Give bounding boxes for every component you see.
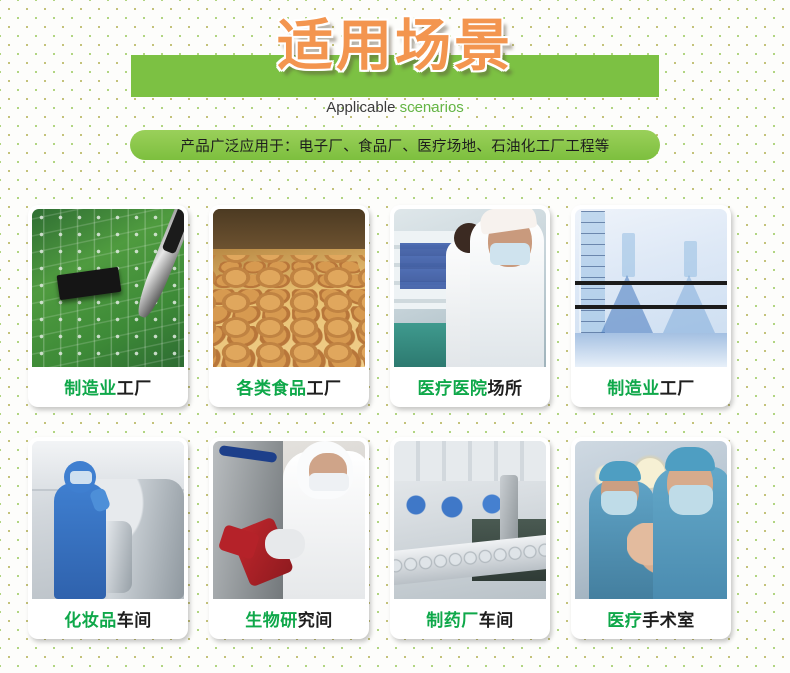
scenario-card[interactable]: 各类食品工厂 [209,205,369,407]
scenario-label-green: 医疗 [607,606,642,631]
scenario-card[interactable]: 生物研究间 [209,437,369,639]
scenario-card-label: 医疗医院场所 [394,367,546,407]
scenario-photo-bio-research-lab [213,441,365,599]
scenario-card[interactable]: 制造业工厂 [571,205,731,407]
scenario-label-green: 制造业 [64,374,117,399]
scenario-card-label: 制药厂车间 [394,599,546,639]
scenario-photo-laboratory-glassware [575,209,727,367]
scenario-card-label: 制造业工厂 [32,367,184,407]
scenario-card-grid: 制造业工厂 各类食品工厂 医疗医院场所 [28,205,764,639]
scenario-label-dark: 工厂 [117,374,152,399]
scenario-card-label: 化妆品车间 [32,599,184,639]
scenario-label-dark: 手术室 [642,606,695,631]
application-banner-text: 产品广泛应用于：电子厂、食品厂、医疗场地、石油化工厂工程等 [180,135,609,156]
scenario-card[interactable]: 医疗手术室 [571,437,731,639]
scenario-photo-hospital-nurses [394,209,546,367]
scenario-label-dark: 究间 [298,606,333,631]
scenario-card[interactable]: 化妆品车间 [28,437,188,639]
scenario-photo-cookie-production-line [213,209,365,367]
scenario-card[interactable]: 制药厂车间 [390,437,550,639]
scenario-card-label: 制造业工厂 [575,367,727,407]
subtitle-accent-text: scenarios [400,99,464,116]
scenario-photo-pharmaceutical-line [394,441,546,599]
scenario-card[interactable]: 医疗医院场所 [390,205,550,407]
scenario-label-dark: 工厂 [660,374,695,399]
page-header: 适用场景 Applicable scenarios 产品广泛应用于：电子厂、食品… [0,0,790,170]
scenario-card-label: 医疗手术室 [575,599,727,639]
scenario-photo-surgery-operating-room [575,441,727,599]
page-subtitle: Applicable scenarios [0,99,790,116]
scenario-label-dark: 场所 [488,374,523,399]
scenario-label-dark: 车间 [479,606,514,631]
scenario-card-label: 生物研究间 [213,599,365,639]
application-banner: 产品广泛应用于：电子厂、食品厂、医疗场地、石油化工厂工程等 [130,130,660,160]
scenario-photo-pcb-circuit-board [32,209,184,367]
scenario-label-green: 制造业 [607,374,660,399]
scenario-label-green: 制药厂 [426,606,479,631]
page-title: 适用场景 [0,18,790,74]
applicable-scenarios-page: 适用场景 Applicable scenarios 产品广泛应用于：电子厂、食品… [0,0,790,673]
scenario-card-label: 各类食品工厂 [213,367,365,407]
scenario-card[interactable]: 制造业工厂 [28,205,188,407]
scenario-label-green: 化妆品 [64,606,117,631]
scenario-label-green: 医疗医院 [418,374,488,399]
scenario-label-green: 生物研 [245,606,298,631]
scenario-label-dark: 车间 [117,606,152,631]
scenario-label-green: 各类食品 [237,374,307,399]
scenario-photo-cosmetics-workshop [32,441,184,599]
scenario-label-dark: 工厂 [307,374,342,399]
subtitle-primary-text: Applicable [326,99,395,116]
